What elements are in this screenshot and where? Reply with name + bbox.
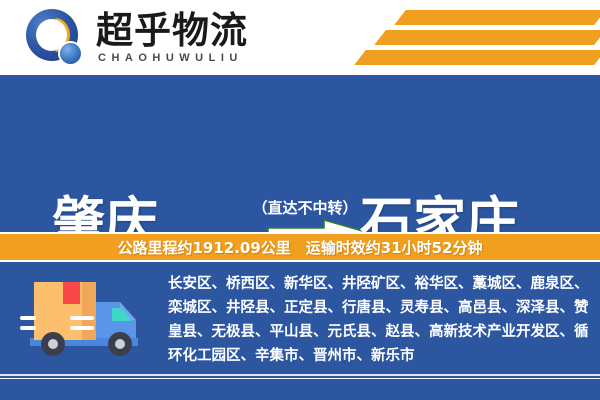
- route-section: 肇庆 （直达不中转） 【往返运输】 石家庄: [0, 75, 600, 230]
- section-divider-secondary: [0, 378, 600, 379]
- direct-route-note: （直达不中转）: [240, 197, 370, 218]
- banner-header: 超乎物流 CHAOHUWULIU: [0, 0, 600, 75]
- route-info-bar: 公路里程约1912.09公里 运输时效约31小时52分钟: [0, 232, 600, 262]
- delivery-truck-icon: [20, 276, 148, 360]
- brand-text-block: 超乎物流 CHAOHUWULIU: [94, 11, 314, 65]
- circular-q-logo-icon: [24, 7, 86, 69]
- logo-accent-dot: [60, 43, 81, 64]
- decorative-stripe-3: [354, 50, 600, 65]
- brand-name-en: CHAOHUWULIU: [96, 51, 314, 65]
- brand-name-cn: 超乎物流: [96, 11, 314, 51]
- coverage-section: 长安区、桥西区、新华区、井陉矿区、裕华区、藁城区、鹿泉区、栾城区、井陉县、正定县…: [0, 264, 600, 400]
- distance-duration-text: 公路里程约1912.09公里 运输时效约31小时52分钟: [117, 237, 482, 258]
- decorative-stripe-2: [374, 30, 600, 45]
- logistics-banner: 超乎物流 CHAOHUWULIU 肇庆 （直达不中转） 【往返运输】 石家庄 公…: [0, 0, 600, 400]
- covered-districts-text: 长安区、桥西区、新华区、井陉矿区、裕华区、藁城区、鹿泉区、栾城区、井陉县、正定县…: [168, 272, 592, 368]
- section-divider: [0, 374, 600, 376]
- decorative-stripe-1: [394, 10, 600, 25]
- brand-logo: 超乎物流 CHAOHUWULIU: [24, 7, 314, 69]
